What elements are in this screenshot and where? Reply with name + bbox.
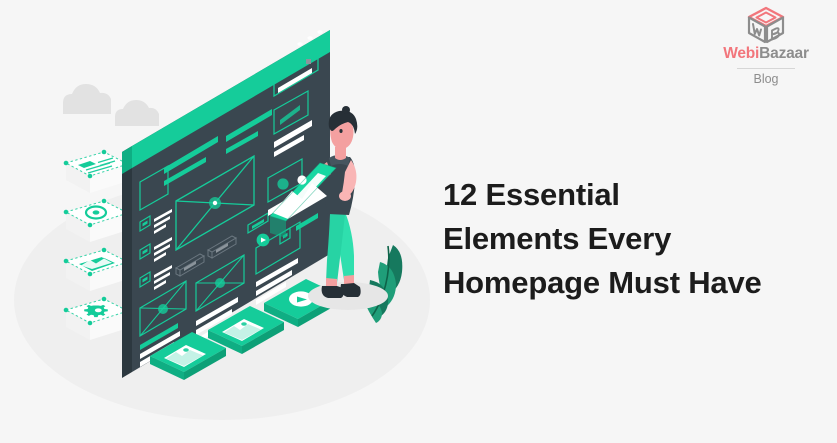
page-title: 12 Essential Elements Every Homepage Mus… <box>443 173 833 305</box>
cube-logo-icon <box>745 6 787 44</box>
character-hair-bun <box>342 106 350 114</box>
browser-left-edge <box>122 146 132 378</box>
page-title-line-1: 12 Essential <box>443 173 833 217</box>
wireframe-tag <box>306 59 311 64</box>
brand-wordmark-primary: Webi <box>723 45 759 62</box>
blog-banner: WebiBazaar Blog 12 Essential Elements Ev… <box>0 0 837 443</box>
brand-block[interactable]: WebiBazaar Blog <box>711 6 821 85</box>
page-title-line-3: Homepage Must Have <box>443 261 833 305</box>
brand-divider <box>737 68 795 69</box>
character-shoe-front <box>322 286 344 298</box>
page-title-line-2: Elements Every <box>443 217 833 261</box>
isometric-web-design-illustration <box>0 0 443 443</box>
brand-wordmark-secondary: Bazaar <box>759 45 809 62</box>
illustration-container <box>0 0 443 443</box>
brand-wordmark: WebiBazaar <box>711 46 821 62</box>
brand-subtitle: Blog <box>711 73 821 86</box>
